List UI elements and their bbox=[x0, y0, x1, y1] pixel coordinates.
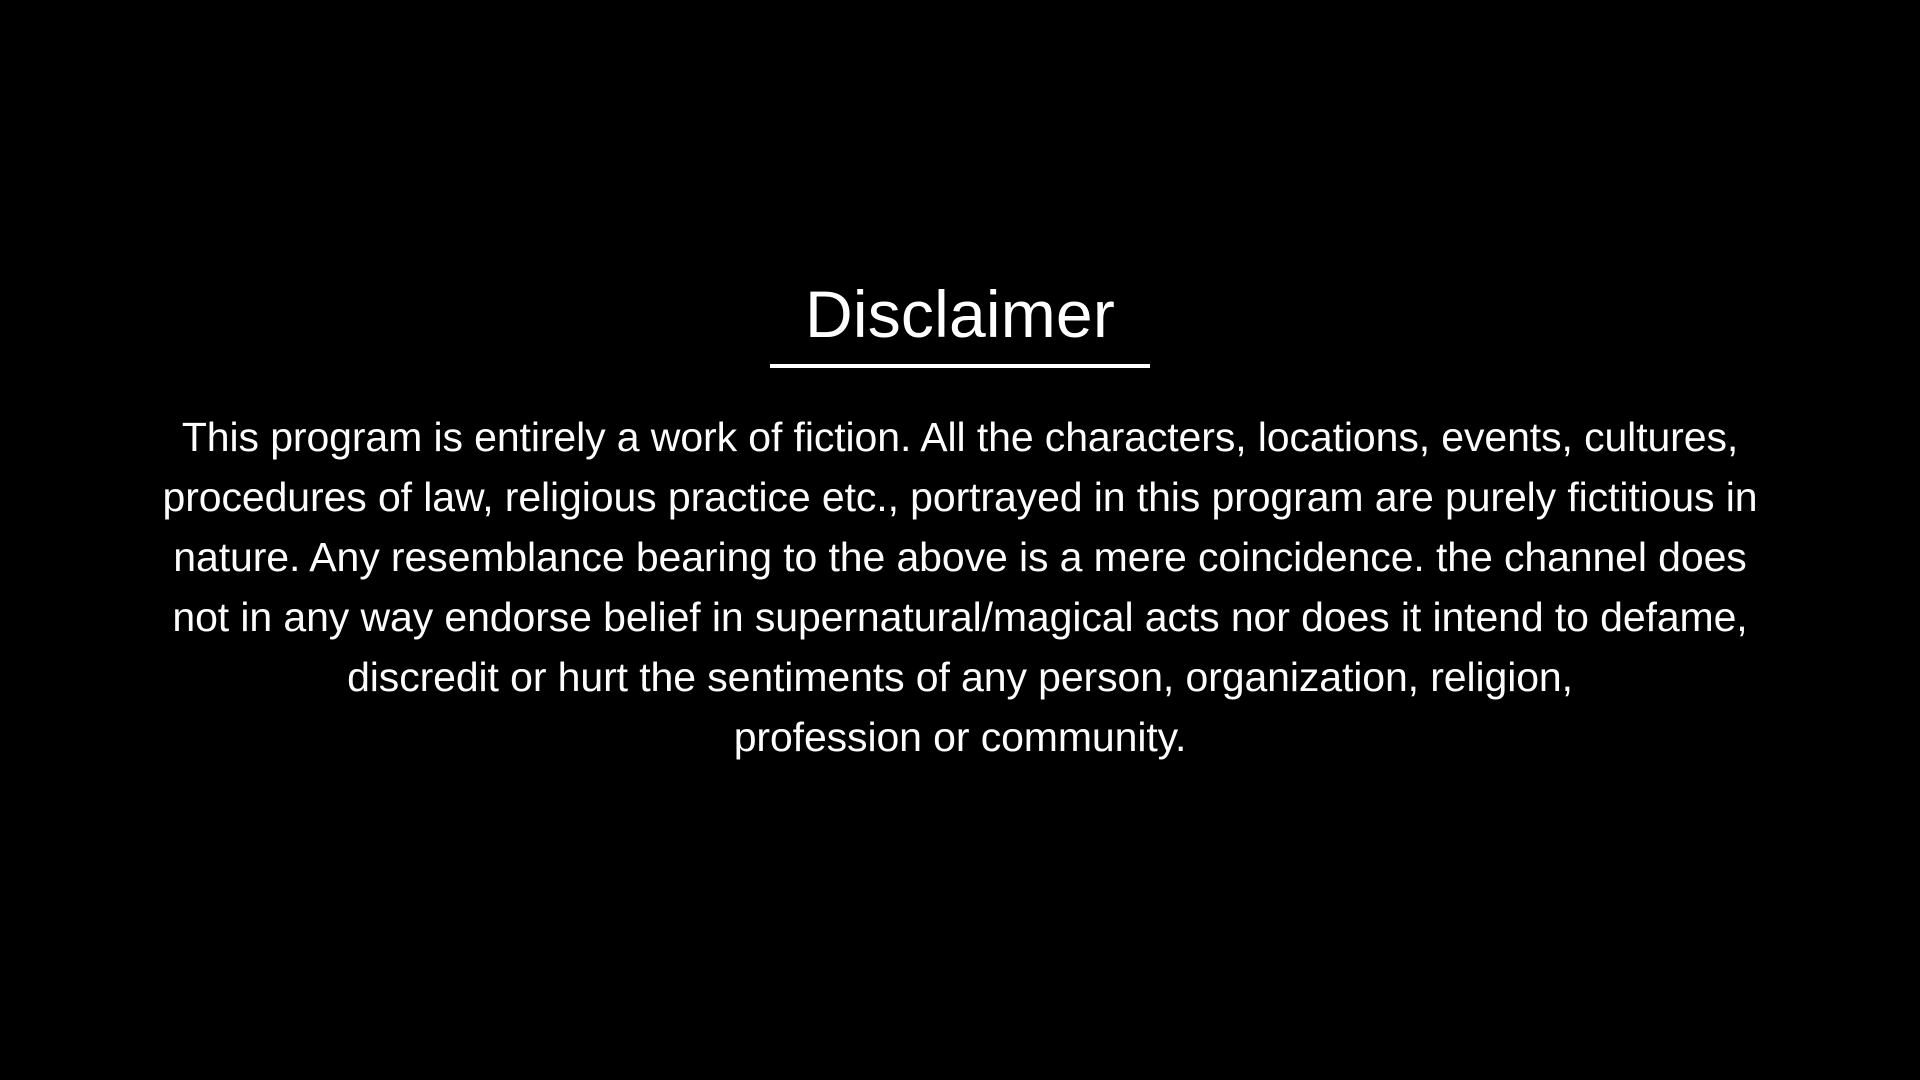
title-underline-rule bbox=[770, 364, 1150, 368]
disclaimer-line: profession or community. bbox=[110, 707, 1810, 767]
disclaimer-line: This program is entirely a work of ficti… bbox=[110, 407, 1810, 467]
disclaimer-line: procedures of law, religious practice et… bbox=[110, 467, 1810, 527]
disclaimer-line: discredit or hurt the sentiments of any … bbox=[110, 647, 1810, 707]
page-title: Disclaimer bbox=[0, 276, 1920, 352]
disclaimer-line: nature. Any resemblance bearing to the a… bbox=[110, 527, 1810, 587]
disclaimer-slide: Disclaimer This program is entirely a wo… bbox=[0, 0, 1920, 1080]
disclaimer-line: not in any way endorse belief in superna… bbox=[110, 587, 1810, 647]
title-block: Disclaimer bbox=[0, 276, 1920, 368]
disclaimer-paragraph: This program is entirely a work of ficti… bbox=[110, 407, 1810, 767]
